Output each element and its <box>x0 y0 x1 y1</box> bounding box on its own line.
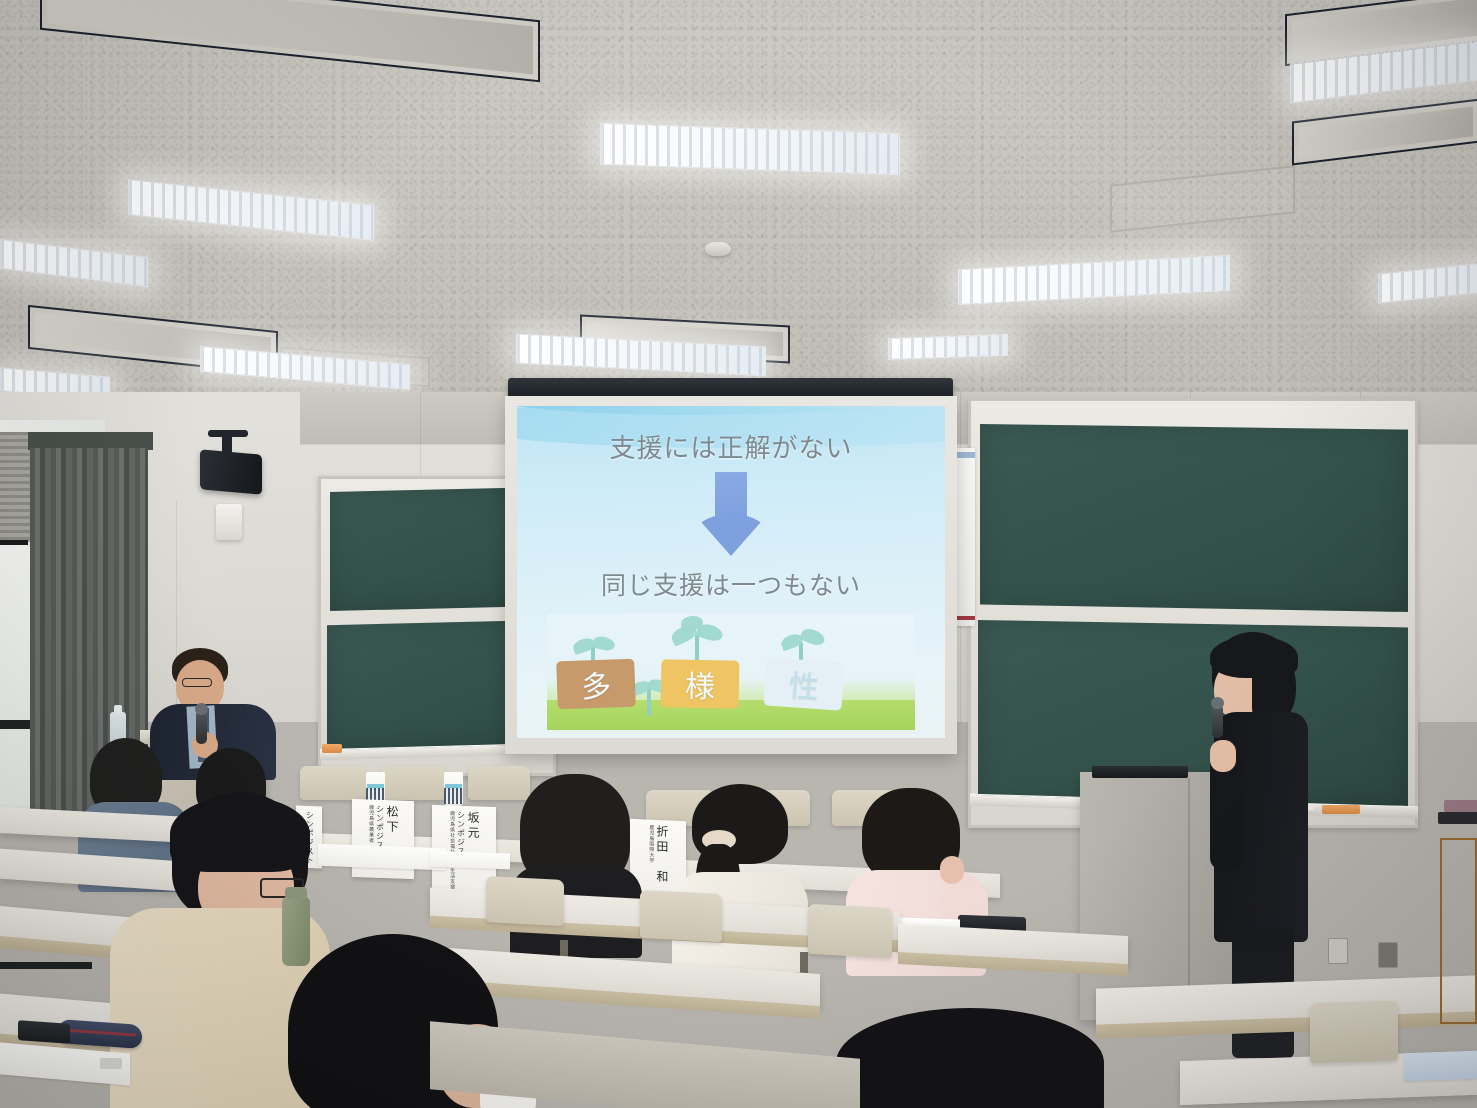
tablet-device[interactable] <box>18 1020 70 1044</box>
chair-back <box>1310 1000 1398 1063</box>
wall-speaker-icon <box>216 504 242 540</box>
glasses-icon <box>182 678 212 687</box>
wall-outlet[interactable] <box>1328 938 1348 964</box>
podium-monitor[interactable] <box>1092 766 1188 778</box>
slide-illustration: 多 様 性 <box>547 614 915 730</box>
lecture-hall-photo: 支援には正解がない 同じ支援は一つもない <box>0 0 1477 1108</box>
speaker-person <box>1196 632 1316 1022</box>
student-hair-front <box>170 796 310 872</box>
chair-back <box>380 766 446 800</box>
window-frame-bar <box>0 962 92 969</box>
diversity-card-3: 性 <box>763 657 844 710</box>
student-bottom-right <box>836 1008 1116 1108</box>
chalkboard-right-upper <box>980 424 1408 612</box>
chalkboard-eraser <box>322 744 342 753</box>
paper-cup <box>444 772 463 806</box>
diversity-card-1: 多 <box>556 659 636 710</box>
stacked-items <box>1438 812 1477 824</box>
projection-screen[interactable]: 支援には正解がない 同じ支援は一つもない <box>505 396 957 754</box>
podium-seam <box>1188 778 1190 1018</box>
student-hair <box>836 1008 1104 1108</box>
presentation-slide: 支援には正解がない 同じ支援は一つもない <box>517 406 945 738</box>
projector-mount-plate <box>208 430 248 437</box>
microphone-icon <box>1212 704 1223 738</box>
down-arrow-icon <box>688 472 774 556</box>
microphone-icon <box>196 710 207 744</box>
pencil-case-zipper <box>64 1028 136 1036</box>
chair-back <box>640 890 722 942</box>
chalkboard-eraser <box>1322 805 1360 814</box>
sprout-leaf-icon <box>799 626 826 648</box>
wall-outlet[interactable] <box>1378 942 1398 968</box>
chair-back <box>808 904 892 958</box>
placard-name: 折田 和 <box>655 825 668 886</box>
projector-icon <box>200 449 262 494</box>
slide-headline-2: 同じ支援は一つもない <box>517 566 945 602</box>
projector-mount <box>222 434 232 454</box>
chair-back <box>486 876 564 926</box>
desk-papers <box>1404 1051 1477 1082</box>
bottle-cap <box>285 887 307 899</box>
sprout-stem <box>647 688 651 716</box>
sprout-leaf-icon <box>592 635 616 653</box>
student-hand <box>940 856 964 884</box>
smoke-detector-icon <box>705 242 731 256</box>
desk-papers <box>430 851 510 870</box>
ceiling-light <box>888 334 1008 360</box>
desk-papers <box>318 844 446 870</box>
louvered-cabinet <box>1440 838 1477 1024</box>
speaker-hand <box>1210 740 1236 772</box>
slide-headline-1: 支援には正解がない <box>517 428 945 465</box>
diversity-card-2: 様 <box>661 659 740 708</box>
placard-affiliation: 鹿児島国際大学 <box>648 825 653 864</box>
eraser-small <box>100 1058 122 1069</box>
stacked-items <box>1444 800 1477 812</box>
